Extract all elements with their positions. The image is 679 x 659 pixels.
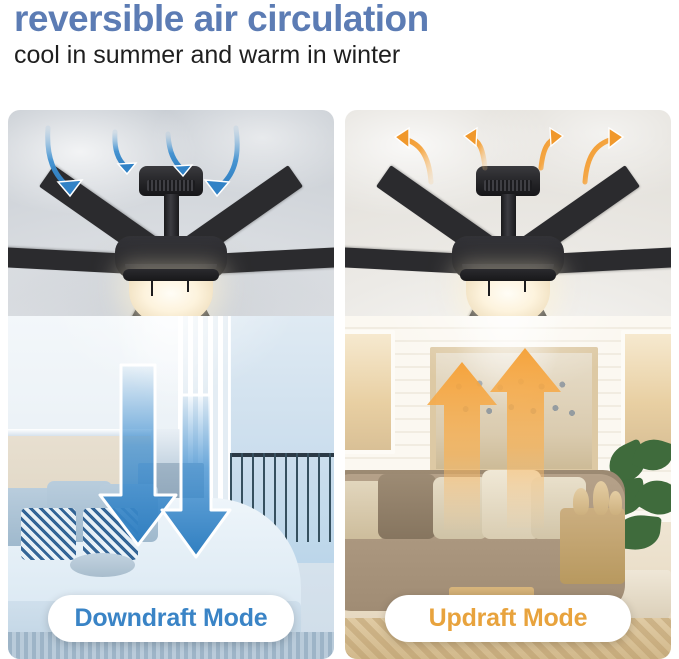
product-feature-graphic: reversible air circulation cool in summe… (0, 0, 679, 659)
downdraft-mode-label-text: Downdraft Mode (74, 604, 267, 633)
page-title: reversible air circulation (14, 0, 429, 40)
updraft-mode-label[interactable]: Updraft Mode (385, 595, 631, 642)
downdraft-scene: Downdraft Mode (8, 110, 334, 659)
panel-updraft: Updraft Mode (345, 110, 671, 659)
fan-pull-chain (524, 280, 526, 292)
panel-downdraft: Downdraft Mode (8, 110, 334, 659)
curved-airflow-arrows-up (345, 110, 671, 250)
fan-pull-chain (151, 280, 153, 296)
downdraft-mode-label[interactable]: Downdraft Mode (48, 595, 294, 642)
fan-pull-chain (488, 280, 490, 296)
updraft-mode-label-text: Updraft Mode (429, 604, 588, 633)
fan-pull-chain (187, 280, 189, 292)
page-subtitle: cool in summer and warm in winter (14, 41, 400, 70)
updraft-scene: Updraft Mode (345, 110, 671, 659)
curved-airflow-arrows-down (8, 110, 334, 250)
